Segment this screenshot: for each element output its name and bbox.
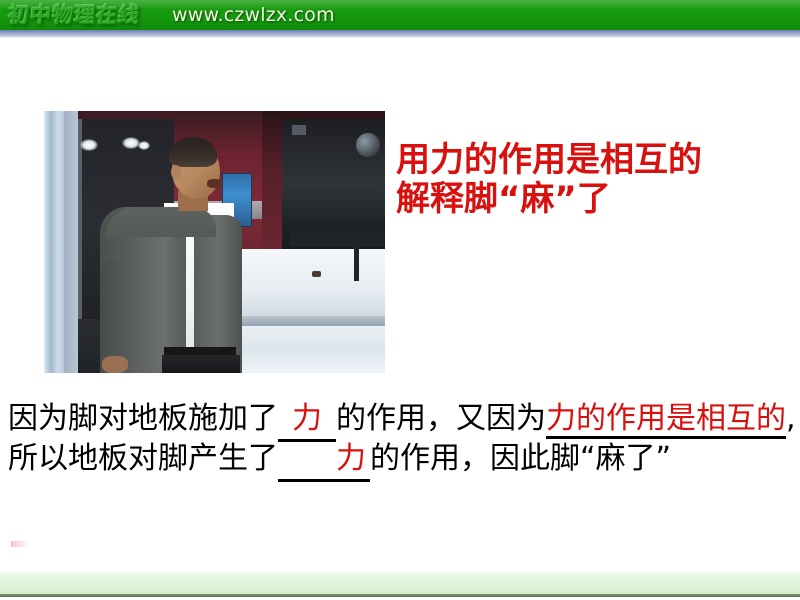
slide-title: 用力的作用是相互的 解释脚“麻”了 — [396, 141, 796, 219]
studio-rig-knob — [356, 133, 380, 157]
page-artifact — [11, 541, 28, 547]
site-logo: 初中物理在线 — [7, 1, 162, 29]
line2-text-part1: 所以地板对脚产生了 — [8, 441, 278, 476]
studio-desk-lower — [222, 326, 385, 373]
person-hand — [102, 356, 128, 373]
person-ear — [171, 165, 181, 179]
ceiling-light-icon — [138, 141, 150, 150]
studio-desk-object — [312, 271, 321, 277]
footer-rule — [0, 594, 800, 597]
paragraph-line-1: 因为脚对地板施加了力的作用，又因为力的作用是相互的, — [8, 399, 800, 439]
line1-text-part3: , — [786, 401, 796, 436]
line1-answer-blank-1[interactable]: 力 — [278, 399, 336, 442]
studio-desk — [230, 249, 385, 319]
studio-pole — [354, 241, 359, 281]
footer-band — [0, 572, 800, 596]
studio-rig-marker — [292, 125, 306, 135]
site-url: www.czwlzx.com — [172, 3, 335, 27]
site-banner: 初中物理在线 www.czwlzx.com — [0, 0, 800, 30]
person-shoulder — [106, 207, 216, 237]
paragraph-line-2: 所以地板对脚产生了力的作用，因此脚“麻了” — [8, 439, 800, 479]
studio-pillar-inner — [64, 111, 78, 373]
studio-desk-edge — [230, 316, 385, 326]
studio-rig-arm — [290, 231, 385, 247]
line1-text-part2: 的作用，又因为 — [336, 401, 546, 436]
studio-glass-pillar — [44, 111, 64, 373]
ceiling-light-icon — [80, 139, 98, 151]
slide-title-line-1: 用力的作用是相互的 — [396, 141, 796, 180]
lesson-photo — [44, 111, 385, 373]
banner-underline-strip — [0, 30, 800, 38]
person-trousers — [162, 355, 240, 373]
fill-in-the-blank-paragraph: 因为脚对地板施加了力的作用，又因为力的作用是相互的, 所以地板对脚产生了力的作用… — [8, 399, 800, 479]
slide-canvas: 初中物理在线 www.czwlzx.com — [0, 0, 800, 600]
ceiling-light-icon — [122, 137, 140, 149]
line2-answer-blank-1[interactable]: 力 — [278, 439, 370, 482]
line2-text-part2: 的作用，因此脚“麻了” — [370, 441, 671, 476]
line1-answer-blank-2[interactable]: 力的作用是相互的 — [546, 401, 786, 439]
line1-text-part1: 因为脚对地板施加了 — [8, 401, 278, 436]
person-mouth — [207, 179, 221, 188]
person-hair — [169, 137, 217, 167]
slide-title-line-2: 解释脚“麻”了 — [396, 180, 796, 219]
